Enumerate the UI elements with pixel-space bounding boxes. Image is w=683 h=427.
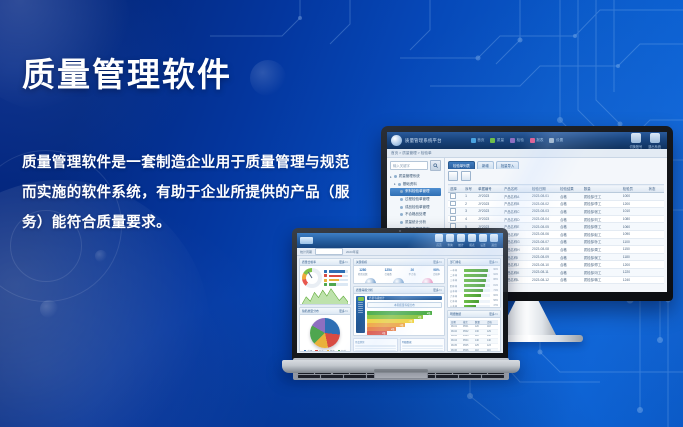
panel-more-link[interactable]: 更多>> [433,288,442,292]
funnel-bar: A级 [367,311,432,315]
tick [358,304,363,305]
tree-node[interactable]: 不合格品处理 [390,211,441,219]
menu-label: 报表 [536,138,543,143]
horizontal-bar-list: 一车间96%二车间92%三车间88%四车间81%五车间74%六车间66%七车间5… [450,268,498,307]
kpi-row: 98合格率72完成率45待处理 [356,277,442,283]
funnel-bar-label: A级 [427,311,431,315]
keyboard-key[interactable] [459,375,481,378]
bottom-cell-title: 月度趋势 [355,340,396,344]
row-checkbox[interactable] [450,193,456,199]
panel-header: 明细数据 更多>> [448,311,500,318]
mini-data-table: 日期批次数量合格 08-01P00112011808-02P0021301290… [450,320,498,351]
table-cell: JY2023 [476,208,502,216]
bar-track [464,289,490,292]
period-value: 2023年度 [346,250,359,254]
pie-legend-item: 外观 [304,349,312,351]
area-chart [302,288,348,304]
table-cell: 3 [463,208,476,216]
dashboard-subbar: 统计周期 2023年度 [297,248,503,256]
legend-swatch [338,350,341,351]
row-checkbox[interactable] [450,201,456,207]
breadcrumb-text: 首页 > 质量管理 > 检验单 [391,151,432,156]
panel-more-link[interactable]: 更多>> [489,312,498,316]
node-dot-icon [394,175,397,178]
bar-row: 六车间66% [450,294,498,298]
report-icon [468,234,476,242]
mini-table-panel: 明细数据 更多>> 日期批次数量合格 08-01P00112011808-02P… [447,310,501,352]
legend-swatch [327,350,330,351]
bar-label: 五车间 [450,289,462,293]
table-cell: 4 [463,215,476,223]
divider [355,350,396,351]
divider [355,345,396,346]
table-cell: 2023-08-05 [530,223,558,231]
tab[interactable]: 检验单列表 [448,161,475,169]
dashboard-logo-icon [300,237,313,244]
panel-title: 部门排名 [450,260,461,264]
node-dot-icon [400,221,403,224]
funnel-badge-icon [358,297,364,301]
table-cell: 合格 [558,253,582,261]
dashboard-center-column: 关键指标 更多>> 1280检验总数1254合格数26不合格98%合格率 98合… [353,258,445,352]
panel-header: 部门排名 更多>> [448,259,500,266]
switch-account-button[interactable]: 切换账号 [630,133,643,149]
menu-item-inspection[interactable]: 检验 [510,138,524,143]
table-cell: JY2023 [476,215,502,223]
monitor-app-titlebar: 质量管理系统平台 首页 质量 检验 [387,132,667,149]
home-icon [435,234,443,242]
table-cell: 质检部/蒋工 [582,276,621,284]
bar-row: 五车间74% [450,289,498,293]
panel-body: 1280检验总数1254合格数26不合格98%合格率 98合格率72完成率45待… [354,266,444,283]
mini-table-body: 08-01P00112011808-02P00213012908-03P0031… [450,325,498,352]
table-cell: 质检部/陈工 [582,223,621,231]
dashboard-left-column: 质量合格率 更多>> [299,258,351,352]
table-cell: 合格 [558,268,582,276]
keyboard-key[interactable] [436,375,458,378]
exit-icon [650,133,660,143]
menu-label: 检验 [517,138,524,143]
legend-swatch [304,350,307,351]
table-column-header[interactable]: 产品名称 [502,185,530,193]
table-cell: 2023-08-07 [530,238,558,246]
node-dot-icon [398,183,401,186]
base-notch [374,369,428,372]
toolbar-button-search[interactable]: 查询 [446,234,454,247]
table-cell: 1010 [621,208,647,216]
stat-item: 1280检验总数 [358,268,368,276]
kpi-item: 72完成率 [393,278,404,283]
pie-panel: 缺陷类型分布 更多>> 外观尺寸性能包装其他 [299,307,351,352]
delete-record-button[interactable] [461,171,471,181]
tree-node-label: 质量统计分析 [405,220,426,225]
kpi-item: 45待处理 [422,278,433,283]
gauge-needle [308,272,313,278]
panel-header: 关键指标 更多>> [354,259,444,266]
app-logo-icon [391,135,402,146]
menu-label: 首页 [477,138,484,143]
webcam-icon [399,230,401,232]
legend-bar [329,270,349,273]
bar-track [464,294,490,297]
tick [358,312,363,313]
gauge-legend [324,270,348,286]
panel-more-link[interactable]: 更多>> [489,260,498,264]
action-label: 切换账号 [630,144,643,149]
table-cell [647,193,664,201]
stat-item: 26不合格 [409,268,416,276]
panel-body: 质量等级统计 本期质量等级分布 A级B级C级D级E级F级 优良 [354,294,444,335]
funnel-note: 本期质量等级分布 [367,302,442,308]
bar-label: 六车间 [450,294,462,298]
toolbar-label: 退出 [490,243,498,247]
row-checkbox[interactable] [450,208,456,214]
menu-item-home[interactable]: 首页 [471,138,485,143]
table-cell: 质检部/刘工 [582,215,621,223]
mini-table-row[interactable]: 08-06P006118116 [450,348,498,351]
kpi-item: 98合格率 [365,278,376,283]
bar-track [464,284,490,287]
table-cell: 产品名称B [502,200,530,208]
toolbar-button-exit[interactable]: 退出 [490,234,498,247]
bottom-cell: 月度趋势 [353,338,398,352]
period-label: 统计周期 [300,250,312,254]
table-cell: 1000 [621,193,647,201]
row-checkbox[interactable] [450,216,456,222]
laptop-base [282,360,520,373]
table-column-header[interactable]: 检验日期 [530,185,558,193]
dashboard-bottom-strip: 月度趋势 明细数据 [353,338,445,352]
tree-node[interactable]: ▸基础资料 [390,181,441,189]
table-cell: 产品名称D [502,215,530,223]
legend-row [324,270,348,273]
table-cell: 合格 [558,276,582,284]
legend-bar [329,275,349,278]
pie-legend: 外观尺寸性能包装其他 [302,349,348,351]
table-row[interactable]: 2JY2023产品名称B2023-08-02合格质检部/李工1200 [448,200,664,208]
menu-item-quality[interactable]: 质量 [490,138,504,143]
search-input[interactable]: 输入关键字 [390,161,428,170]
search-icon [446,234,454,242]
keyboard-key[interactable] [298,375,320,378]
table-cell: 2023-08-01 [530,193,558,201]
toolbar-label: 报表 [468,243,476,247]
report-icon [530,138,535,143]
funnel-main: 质量等级统计 本期质量等级分布 A级B级C级D级E级F级 优良 [367,296,442,333]
tree-node[interactable]: 过程检验单管理 [390,196,441,204]
table-cell: 1240 [621,276,647,284]
panel-body: 日期批次数量合格 08-01P00112011808-02P0021301290… [448,318,500,351]
legend-swatch [324,283,327,286]
funnel-bar-label: D级 [400,323,404,327]
table-cell: 质检部/赵工 [582,230,621,238]
toolbar-label: 查询 [446,243,454,247]
table-cell: 合格 [558,246,582,254]
hbar-panel: 部门排名 更多>> 一车间96%二车间92%三车间88%四车间81%五车间74%… [447,258,501,308]
toolbar-row [448,171,664,181]
bar-value: 92% [491,274,498,276]
search-icon [433,163,438,168]
bar-track [464,305,490,307]
bar-value: 74% [491,290,498,292]
bar-row: 二车间92% [450,273,498,277]
table-cell: 合格 [558,200,582,208]
tree-node-label: 成品检验单管理 [405,205,430,210]
bar-value: 47% [491,305,498,307]
legend-row [324,274,348,277]
table-row[interactable]: 4JY2023产品名称D2023-08-04合格质检部/刘工1080 [448,215,664,223]
table-cell: 1220 [621,268,647,276]
tree-node[interactable]: 来料检验单管理 [390,188,441,196]
table-cell: 2023-08-03 [530,208,558,216]
table-cell [647,208,664,216]
table-row[interactable]: 1JY2023产品名称A2023-08-01合格质检部/王工1000 [448,193,664,201]
keyboard-key[interactable] [321,375,343,378]
legend-label: 包装 [341,349,346,351]
bar-row: 四车间81% [450,284,498,288]
kpi-panel: 关键指标 更多>> 1280检验总数1254合格数26不合格98%合格率 98合… [353,258,445,284]
search-button[interactable] [430,160,441,171]
panel-header: 缺陷类型分布 更多>> [300,308,350,315]
mini-table-cell: P006 [462,348,474,351]
table-cell: 1060 [621,223,647,231]
gear-icon [549,138,554,143]
chart-icon [457,234,465,242]
bar-value: 88% [491,279,498,281]
table-header-row: 选择序号单据编号产品名称检验日期检验结果数量检验员状态 [448,185,664,193]
funnel-note-text: 本期质量等级分布 [394,303,415,307]
funnel-bar: B级 [367,315,423,319]
table-column-header[interactable]: 检验结果 [558,185,582,193]
funnel-bar-label: E级 [391,327,395,331]
legend-swatch [324,274,327,277]
tree-node-label: 质量管理系统 [399,174,420,179]
page-title: 质量管理软件 [22,48,232,96]
pie-legend-item: 尺寸 [315,349,323,351]
funnel-bar-label: C级 [409,319,413,323]
bar-track [464,300,490,303]
funnel-sidebar [356,296,365,333]
user-switch-icon [631,133,641,143]
legend-swatch [324,270,327,273]
table-cell: 2 [463,200,476,208]
action-label: 退出系统 [648,144,661,149]
table-cell: 2023-08-04 [530,215,558,223]
app-menu: 首页 质量 检验 报表 [471,138,563,143]
tree-node[interactable]: 质量统计分析 [390,219,441,227]
table-cell: 产品名称A [502,193,530,201]
legend-swatch [324,279,327,282]
bar-track [464,274,490,277]
table-cell: 2023-08-11 [530,268,558,276]
tree-node[interactable]: ▸质量管理系统 [390,173,441,181]
table-column-header[interactable]: 状态 [647,185,664,193]
gauge-panel: 质量合格率 更多>> [299,258,351,305]
divider [355,348,396,349]
table-column-header[interactable]: 单据编号 [476,185,502,193]
table-cell [647,253,664,261]
table-cell: 1180 [621,253,647,261]
legend-swatch [315,350,318,351]
table-column-header[interactable]: 序号 [463,185,476,193]
funnel-widget: 质量等级统计 本期质量等级分布 A级B级C级D级E级F级 优良 [356,296,442,333]
funnel-bar-label: B级 [418,315,422,319]
tree-search: 输入关键字 [390,161,441,170]
legend-label: 尺寸 [319,349,324,351]
tree-node-label: 不合格品处理 [405,212,426,217]
table-cell: 2023-08-09 [530,253,558,261]
table-column-header[interactable]: 数量 [582,185,621,193]
stat-item: 1254合格数 [385,268,392,276]
toolbar-label: 首页 [435,243,443,247]
table-cell: 2023-08-12 [530,276,558,284]
bar-row: 三车间88% [450,278,498,282]
toolbar-button-report[interactable]: 报表 [468,234,476,247]
panel-header: 质量等级分析 更多>> [354,287,444,294]
funnel-head: 质量等级统计 [367,296,442,300]
funnel-head-title: 质量等级统计 [369,296,385,300]
bar-row: 一车间96% [450,268,498,272]
node-dot-icon [400,190,403,193]
bar-value: 96% [491,269,498,271]
table-cell: 质检部/张工 [582,208,621,216]
divider [402,350,443,351]
tick [358,308,363,309]
bar-label: 八车间 [450,304,462,307]
panel-title: 明细数据 [450,312,461,316]
bottom-cell-title: 明细数据 [402,340,443,344]
table-cell [647,215,664,223]
keyboard-key[interactable] [344,375,366,378]
table-cell: 2023-08-08 [530,246,558,254]
app-title: 质量管理系统平台 [405,138,442,144]
body-paragraph: 质量管理软件是一套制造企业用于质量管理与规范而实施的软件系统，有助于企业所提供的… [22,148,352,238]
table-cell [448,193,463,201]
stat-label: 检验总数 [358,272,368,276]
table-cell: 1200 [621,200,647,208]
toolbar-label: 统计 [457,243,465,247]
app-actions: 切换账号 退出系统 [630,133,664,149]
stat-item: 98%合格率 [433,268,440,276]
tree-node-label: 来料检验单管理 [405,189,430,194]
table-cell: 1080 [621,215,647,223]
table-column-header[interactable]: 检验员 [621,185,647,193]
table-cell [448,200,463,208]
table-cell [647,276,664,284]
laptop-screen: 首页查询统计报表设置退出 统计周期 2023年度 质量合格率 更多>> [297,233,503,353]
menu-item-settings[interactable]: 设置 [549,138,563,143]
legend-label: 性能 [330,349,335,351]
toolbar-label: 设置 [479,243,487,247]
table-cell: 质检部/孙工 [582,238,621,246]
chevron-right-icon: ▸ [394,182,396,186]
table-cell: 1150 [621,246,647,254]
node-dot-icon [400,206,403,209]
bar-label: 七车间 [450,299,462,303]
keyboard-key[interactable] [482,375,504,378]
divider [402,345,443,346]
dashboard-right-column: 部门排名 更多>> 一车间96%二车间92%三车间88%四车间81%五车间74%… [447,258,501,352]
funnel-bar: F级 [367,331,387,335]
chevron-right-icon: ▸ [390,175,392,179]
stat-row: 1280检验总数1254合格数26不合格98%合格率 [356,268,442,277]
table-cell: 质检部/周工 [582,246,621,254]
tick [358,310,363,311]
panel-more-link[interactable]: 更多>> [433,260,442,264]
legend-bar [329,279,349,282]
panel-title: 质量合格率 [302,260,316,264]
panel-title: 关键指标 [356,260,367,264]
table-cell [647,246,664,254]
tick [358,306,363,307]
new-record-button[interactable] [448,171,458,181]
bar-label: 一车间 [450,268,462,272]
logout-button[interactable]: 退出系统 [648,133,661,149]
node-dot-icon [400,213,403,216]
table-cell: 质检部/冯工 [582,268,621,276]
inspection-icon [510,138,515,143]
mini-table-cell: 08-06 [450,348,462,351]
bar-value: 66% [491,295,498,297]
menu-label: 质量 [497,138,504,143]
tree-node-label: 过程检验单管理 [405,197,430,202]
tab[interactable]: 批量导入 [496,161,520,169]
panel-more-link[interactable]: 更多>> [339,260,348,264]
divider [402,348,443,349]
table-cell: 合格 [558,223,582,231]
table-cell: 合格 [558,215,582,223]
table-cell: 合格 [558,208,582,216]
tree-node-label: 基础资料 [403,182,417,187]
search-placeholder: 输入关键字 [393,163,410,168]
gauge-chart [302,268,322,288]
panel-title: 质量等级分析 [356,288,373,292]
table-cell [647,223,664,231]
table-cell [647,261,664,269]
period-select[interactable] [315,248,343,255]
mini-table-cell: 116 [486,348,498,351]
panel-more-link[interactable]: 更多>> [339,309,348,313]
table-cell: JY2023 [476,200,502,208]
menu-item-report[interactable]: 报表 [530,138,544,143]
stat-label: 合格数 [385,272,392,276]
table-cell [647,238,664,246]
bar-row: 七车间58% [450,299,498,303]
panel-body: 外观尺寸性能包装其他 [300,315,350,351]
pie-chart [310,318,340,348]
gear-icon [479,234,487,242]
table-cell: 合格 [558,193,582,201]
bar-row: 八车间47% [450,304,498,307]
tab[interactable]: 新增 [477,161,494,169]
toolbar-button-chart[interactable]: 统计 [457,234,465,247]
table-cell: 合格 [558,238,582,246]
table-row[interactable]: 3JY2023产品名称C2023-08-03合格质检部/张工1010 [448,208,664,216]
home-icon [471,138,476,143]
table-cell: 1200 [621,261,647,269]
tree-node[interactable]: 成品检验单管理 [390,203,441,211]
toolbar-button-gear[interactable]: 设置 [479,234,487,247]
gauge-widget [302,268,348,288]
table-cell [448,208,463,216]
table-cell: 质检部/吴工 [582,253,621,261]
pie-legend-item: 包装 [338,349,346,351]
toolbar-button-home[interactable]: 首页 [435,234,443,247]
table-column-header[interactable]: 选择 [448,185,463,193]
tick [358,302,363,303]
table-cell: 2023-08-06 [530,230,558,238]
breadcrumb: 首页 > 质量管理 > 检验单 [387,149,667,158]
